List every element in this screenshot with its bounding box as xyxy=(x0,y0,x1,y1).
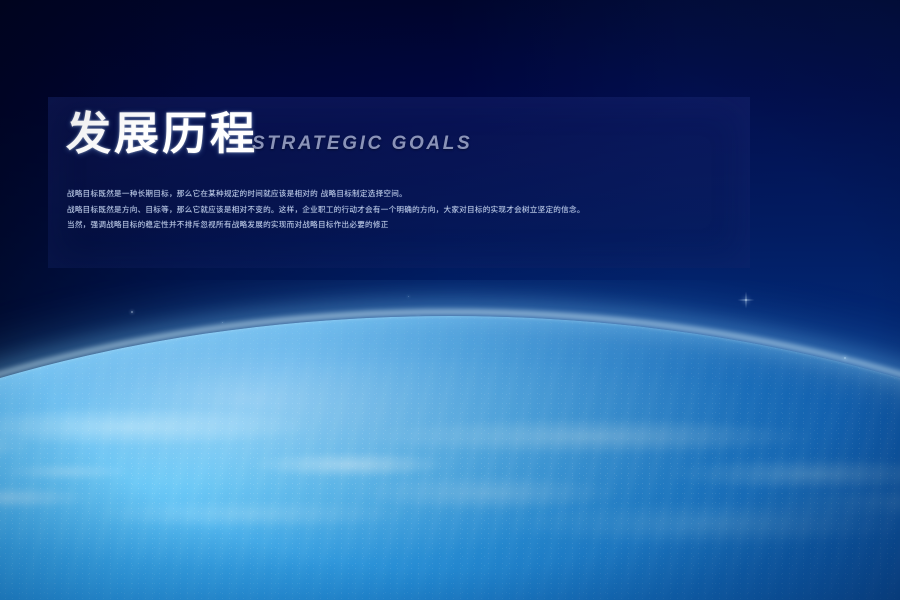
earth-globe xyxy=(0,280,900,600)
body-line: 当然，强调战略目标的稳定性并不排斥忽视所有战略发展的实现而对战略目标作出必要的修… xyxy=(67,217,707,233)
body-line: 战略目标既然是一种长期目标，那么它在某种规定的时间就应该是相对的 战略目标制定选… xyxy=(67,186,707,202)
page-title: 发展历程 xyxy=(66,112,258,157)
page-subtitle: STRATEGIC GOALS xyxy=(252,133,472,155)
banner-stage: 发展历程 STRATEGIC GOALS 战略目标既然是一种长期目标，那么它在某… xyxy=(0,0,900,600)
headline-group: 发展历程 STRATEGIC GOALS xyxy=(66,112,472,157)
body-copy: 战略目标既然是一种长期目标，那么它在某种规定的时间就应该是相对的 战略目标制定选… xyxy=(67,186,707,233)
body-line: 战略目标既然是方向、目标等，那么它就应该是相对不变的。这样，企业职工的行动才会有… xyxy=(67,202,707,218)
limb-rim-highlight xyxy=(0,310,900,600)
